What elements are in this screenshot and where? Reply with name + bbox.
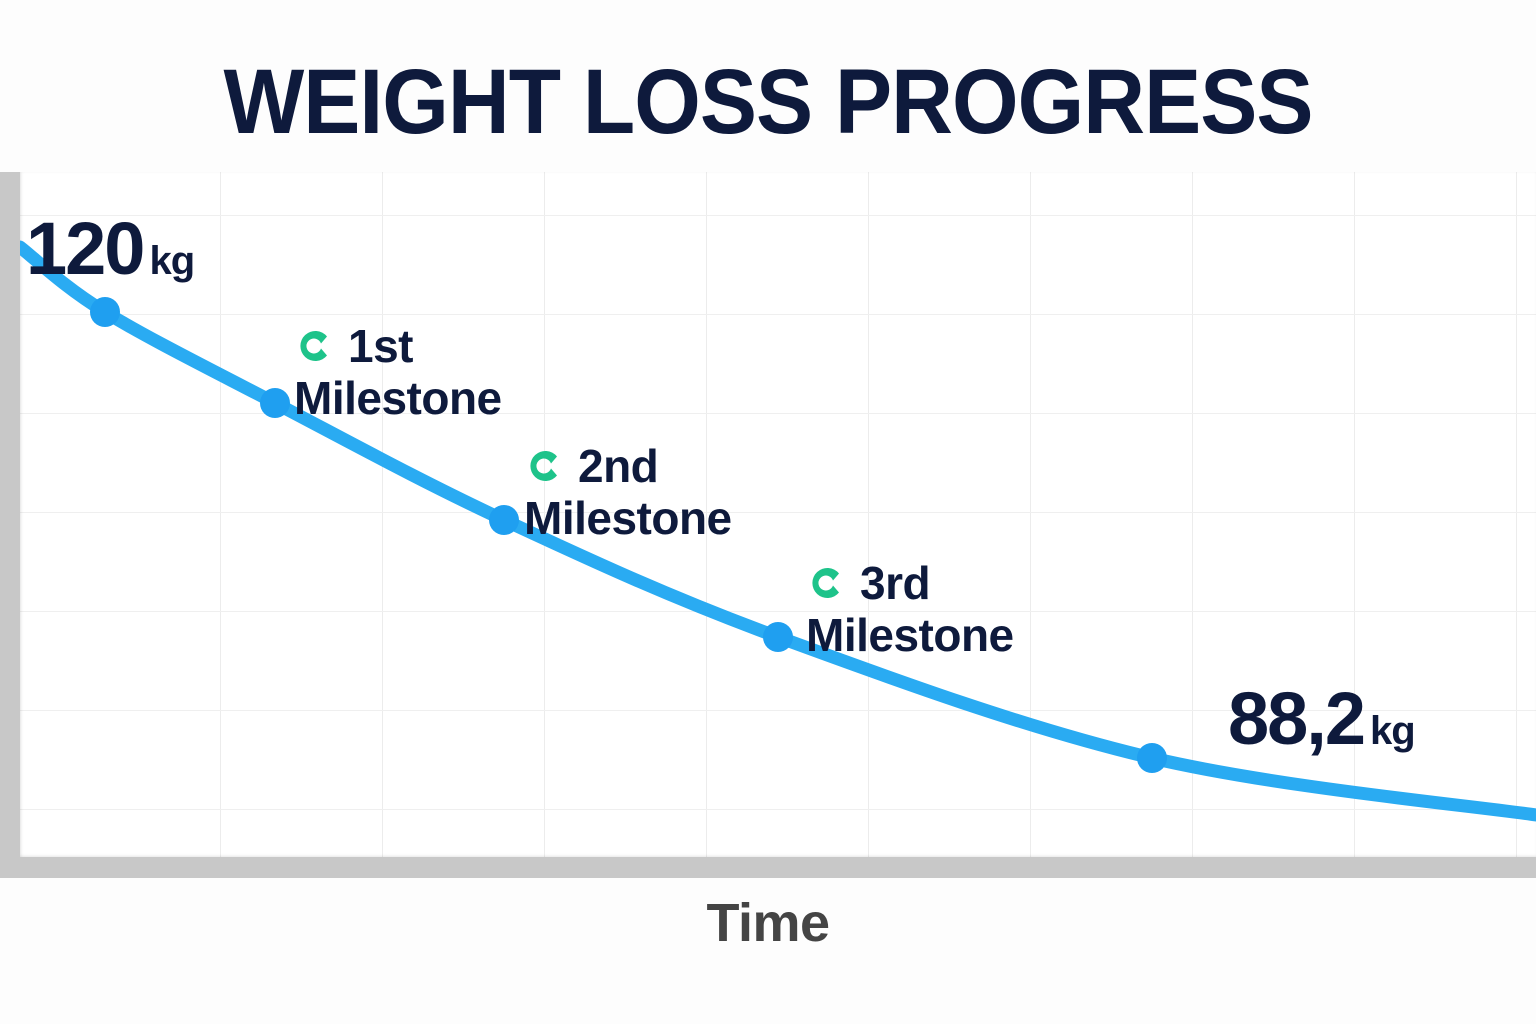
milestone-1-line1: 1st [348,320,413,372]
data-point-marker [260,388,290,418]
milestone-3: 3rd Milestone [806,557,1016,661]
milestone-1: 1st Milestone [294,320,504,424]
data-point-marker [489,505,519,535]
milestone-1-line2: Milestone [294,372,504,424]
end-weight-unit: kg [1370,709,1415,753]
data-point-marker [1137,743,1167,773]
x-axis-title: Time [0,892,1536,954]
start-weight-unit: kg [149,239,194,283]
data-point-marker [763,622,793,652]
start-weight-label: 120kg [26,212,194,286]
page-title: WEIGHT LOSS PROGRESS [54,52,1482,152]
milestone-2-line2: Milestone [524,492,734,544]
end-weight-value: 88,2 [1228,677,1364,760]
milestone-3-line2: Milestone [806,609,1016,661]
milestone-c-icon [806,563,846,603]
milestone-3-line1: 3rd [860,557,930,609]
weight-loss-curve [0,172,1536,878]
milestone-c-icon [294,326,334,366]
start-weight-value: 120 [26,207,143,290]
milestone-2: 2nd Milestone [524,440,734,544]
plot-frame [0,172,1536,878]
milestone-c-icon [524,446,564,486]
milestone-2-line1: 2nd [578,440,658,492]
chart-root: WEIGHT LOSS PROGRESS 120kg 88,2kg [0,0,1536,1024]
data-point-marker [90,297,120,327]
end-weight-label: 88,2kg [1228,682,1415,756]
